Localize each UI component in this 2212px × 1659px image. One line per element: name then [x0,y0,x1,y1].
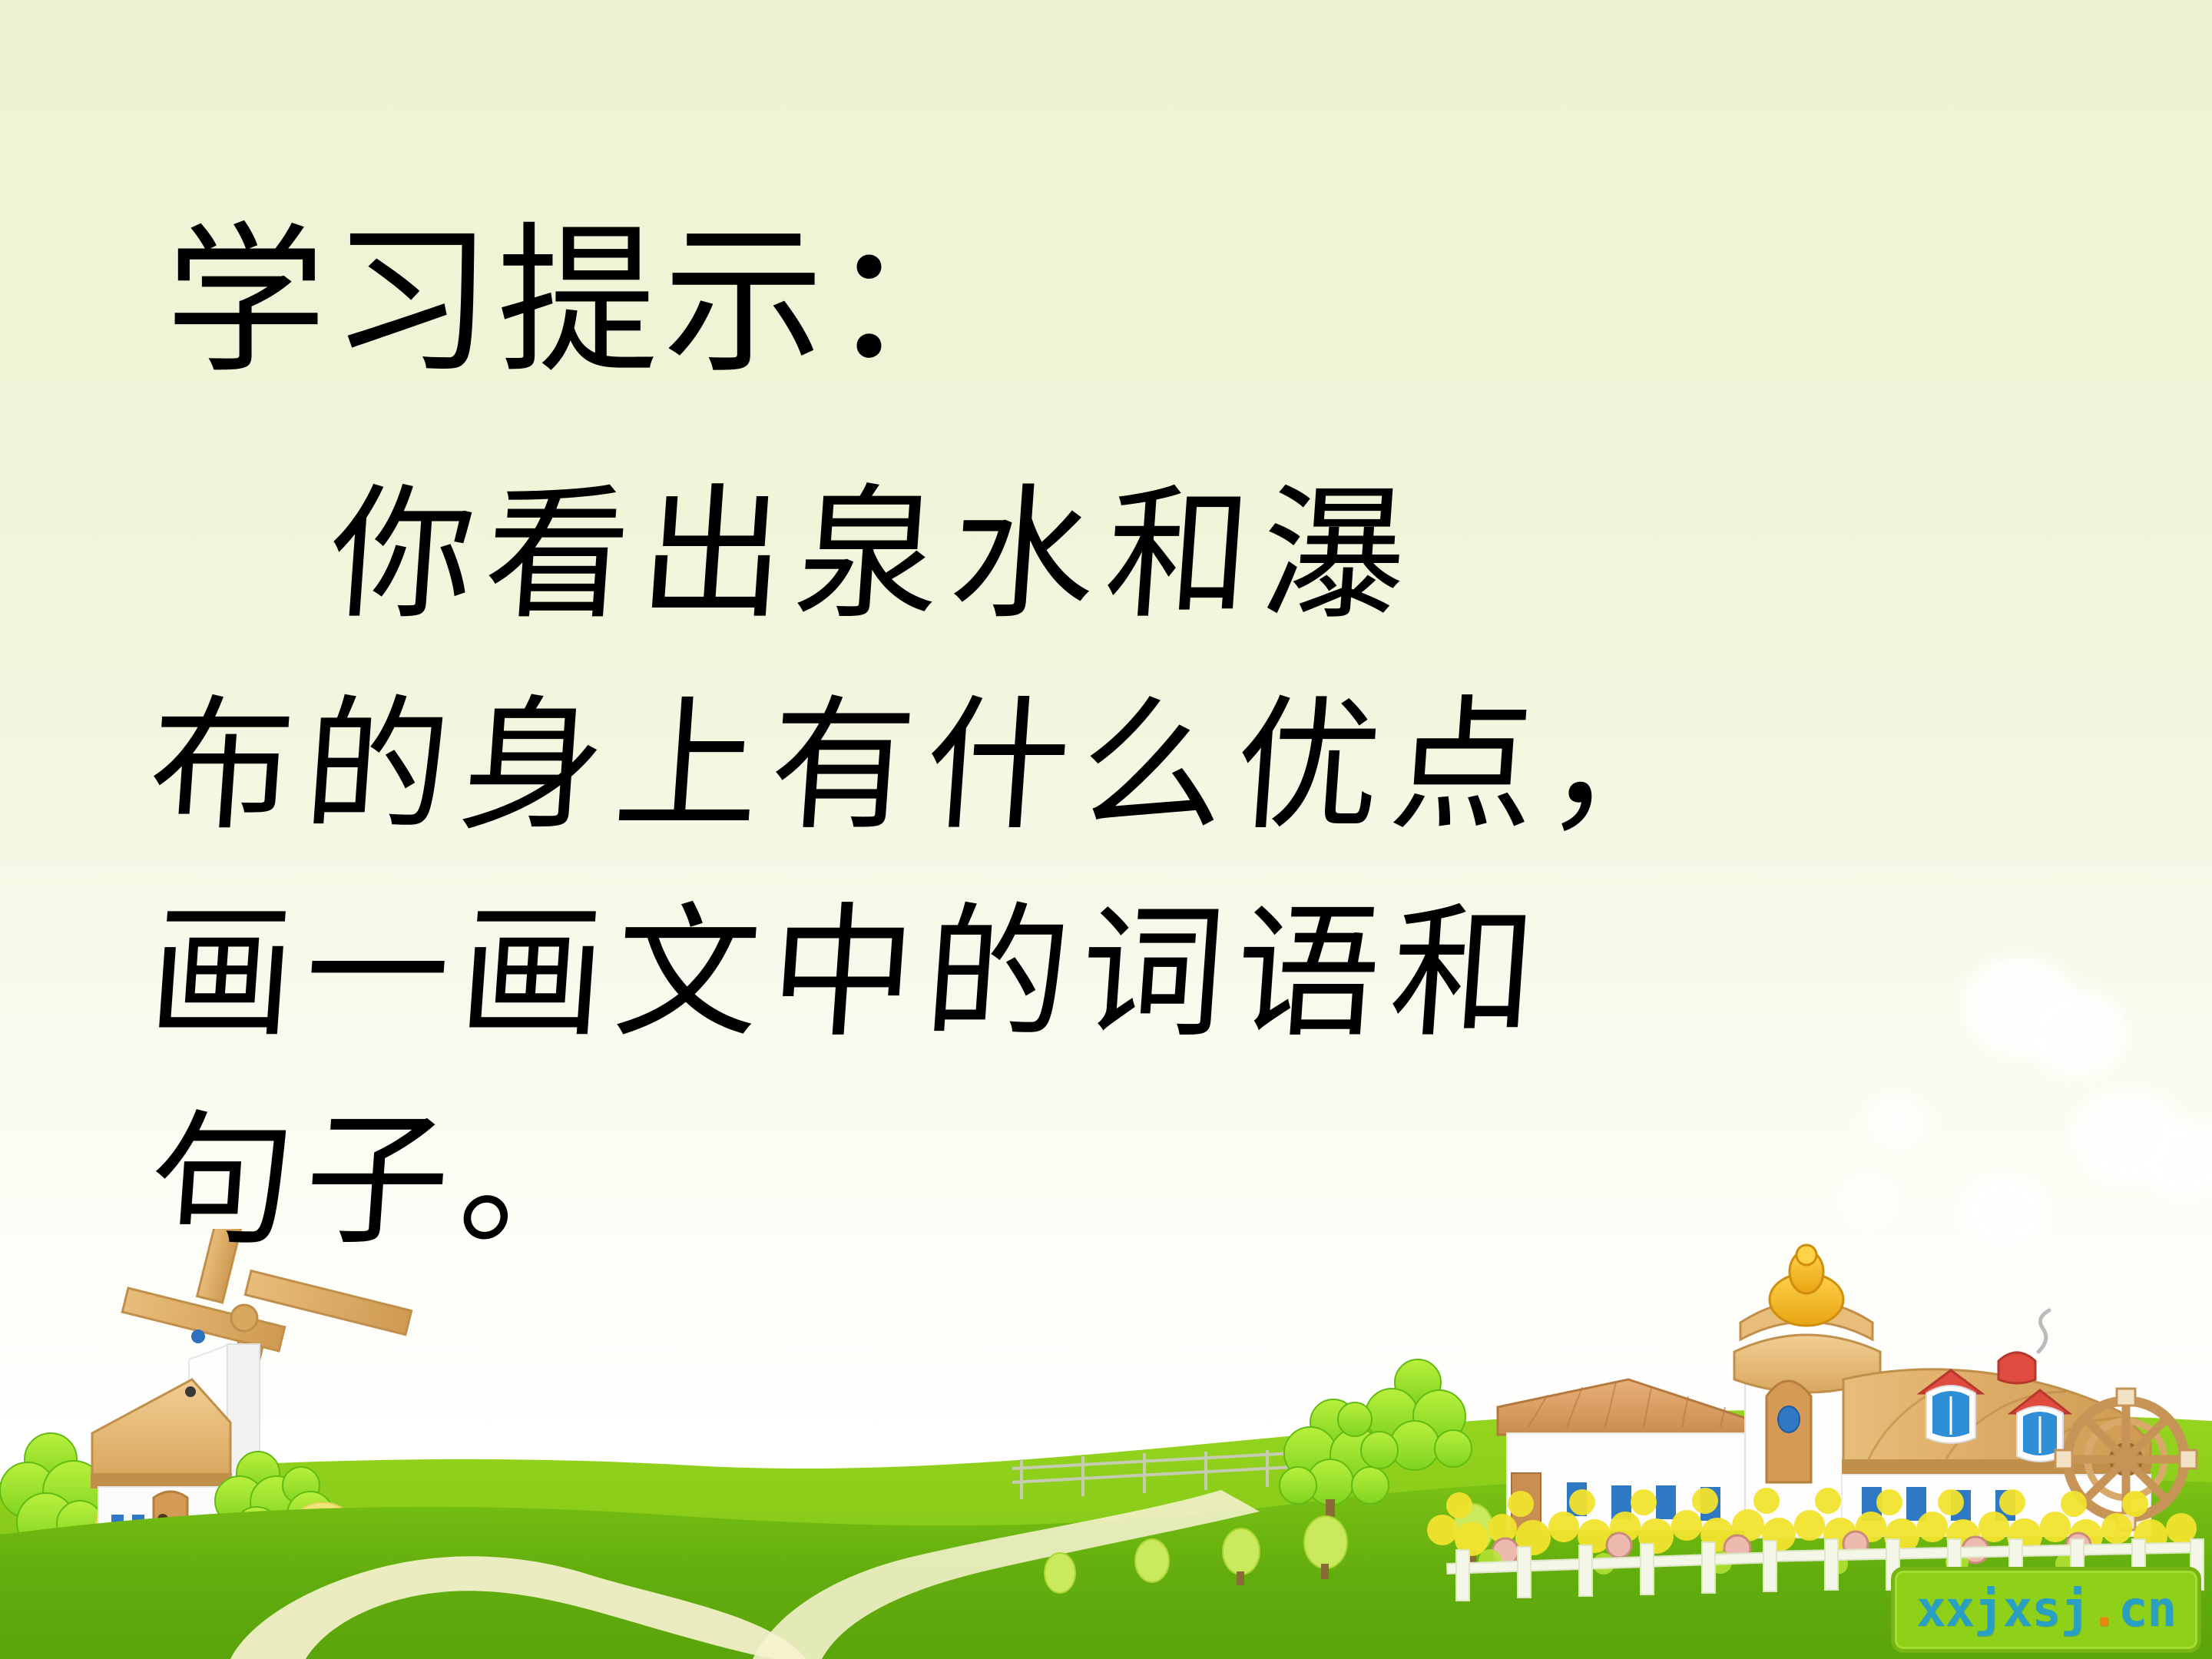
watermark-text: xxjxsj.cn [1916,1585,2176,1634]
lesson-text-block: 学习提示： 你看出泉水和瀑 布的身上有什么优点， 画一画文中的词语和 句子。 [0,0,2212,1382]
body-line-2: 布的身上有什么优点， [144,695,1706,839]
slide-canvas: 学习提示： 你看出泉水和瀑 布的身上有什么优点， 画一画文中的词语和 句子。 x… [0,0,2212,1659]
watermark-text-tld: cn [2118,1581,2176,1638]
body-line-1: 你看出泉水和瀑 [325,484,1421,628]
watermark-badge: xxjxsj.cn [1891,1567,2201,1653]
body-line-3: 画一画文中的词语和 [144,902,1551,1047]
white-tile-roof-house [1498,1379,1759,1530]
body-line-4: 句子。 [144,1110,620,1254]
watermark-dot: . [2089,1581,2118,1638]
watermark-text-main: xxjxsj [1916,1581,2089,1638]
page-title: 学习提示： [165,223,995,384]
